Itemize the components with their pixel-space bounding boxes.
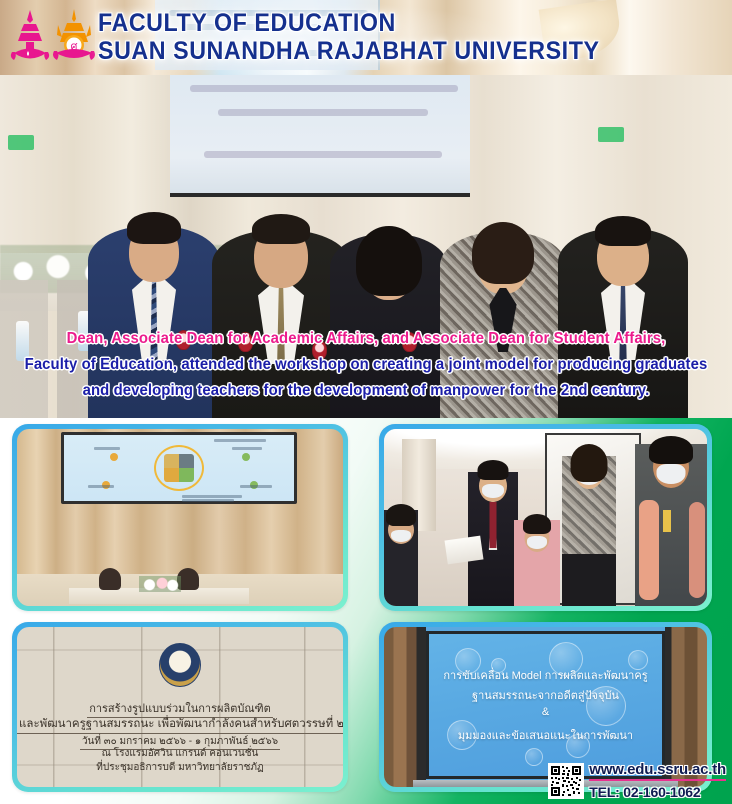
caption-line-3: and developing teachers for the developm… (15, 378, 718, 404)
p2-person-seated-middle (514, 520, 560, 606)
footer-website-link[interactable]: www.edu.ssru.ac.th (589, 761, 726, 781)
p2-person-scout (635, 444, 707, 606)
p4-thai-line-1: การขับเคลื่อน Model การผลิตและพัฒนาครู (429, 666, 662, 684)
p1-projector-frame (61, 432, 297, 504)
p2-person-tweed (562, 456, 616, 606)
gallery-photo-lobby-registration (379, 424, 712, 611)
footer-contact: www.edu.ssru.ac.th TEL: 02-160-1062 (548, 761, 726, 800)
hero-exit-sign-right (598, 127, 624, 142)
gallery-photo-auditorium-slide (12, 424, 348, 611)
p1-speaker-left (99, 568, 121, 590)
gallery-photo-event-backdrop: การสร้างรูปแบบร่วมในการผลิตบัณฑิต และพัฒ… (12, 622, 348, 792)
poster-header: ศ FACULTY OF EDUCATION SUAN SUNANDHA RAJ… (0, 0, 732, 75)
p4-thai-line-4: มุมมองและข้อเสนอแนะในการพัฒนา (429, 726, 662, 744)
caption-line-2: Faculty of Education, attended the works… (15, 352, 718, 378)
header-title-line-1: FACULTY OF EDUCATION (98, 10, 675, 36)
caption-block: Dean, Associate Dean for Academic Affair… (0, 322, 732, 418)
ssru-crown-emblem-icon: ศ (52, 7, 96, 69)
p3-thai-line-4: ณ โรงแรมอัศวิน แกรนด์ คอนเวนชั่น (17, 746, 343, 761)
hero-projector-screen (170, 75, 470, 197)
ssru-pink-emblem-icon (8, 7, 52, 69)
p4-thai-line-3: & (429, 706, 662, 718)
university-seal-icon (159, 643, 201, 687)
p1-slide (64, 435, 294, 501)
p2-person-suit (468, 472, 518, 606)
header-title-block: FACULTY OF EDUCATION SUAN SUNANDHA RAJAB… (98, 10, 718, 65)
header-title-line-2: SUAN SUNANDHA RAJABHAT UNIVERSITY (98, 38, 675, 64)
p3-thai-line-5: ที่ประชุมอธิการบดี มหาวิทยาลัยราชภัฏ (17, 760, 343, 775)
poster-root: ศ FACULTY OF EDUCATION SUAN SUNANDHA RAJ… (0, 0, 732, 804)
p4-thai-line-2: ฐานสมรรถนะจากอดีตสู่ปัจจุบัน (429, 686, 662, 704)
qr-code-icon[interactable] (548, 763, 584, 799)
hero-exit-sign (8, 135, 34, 150)
p1-flowers (139, 576, 181, 592)
p2-person-seated-left (384, 510, 418, 606)
footer-telephone: TEL: 02-160-1062 (589, 784, 726, 800)
caption-line-1: Dean, Associate Dean for Academic Affair… (15, 326, 718, 352)
p4-projector-screen: การขับเคลื่อน Model การผลิตและพัฒนาครู ฐ… (426, 631, 665, 779)
